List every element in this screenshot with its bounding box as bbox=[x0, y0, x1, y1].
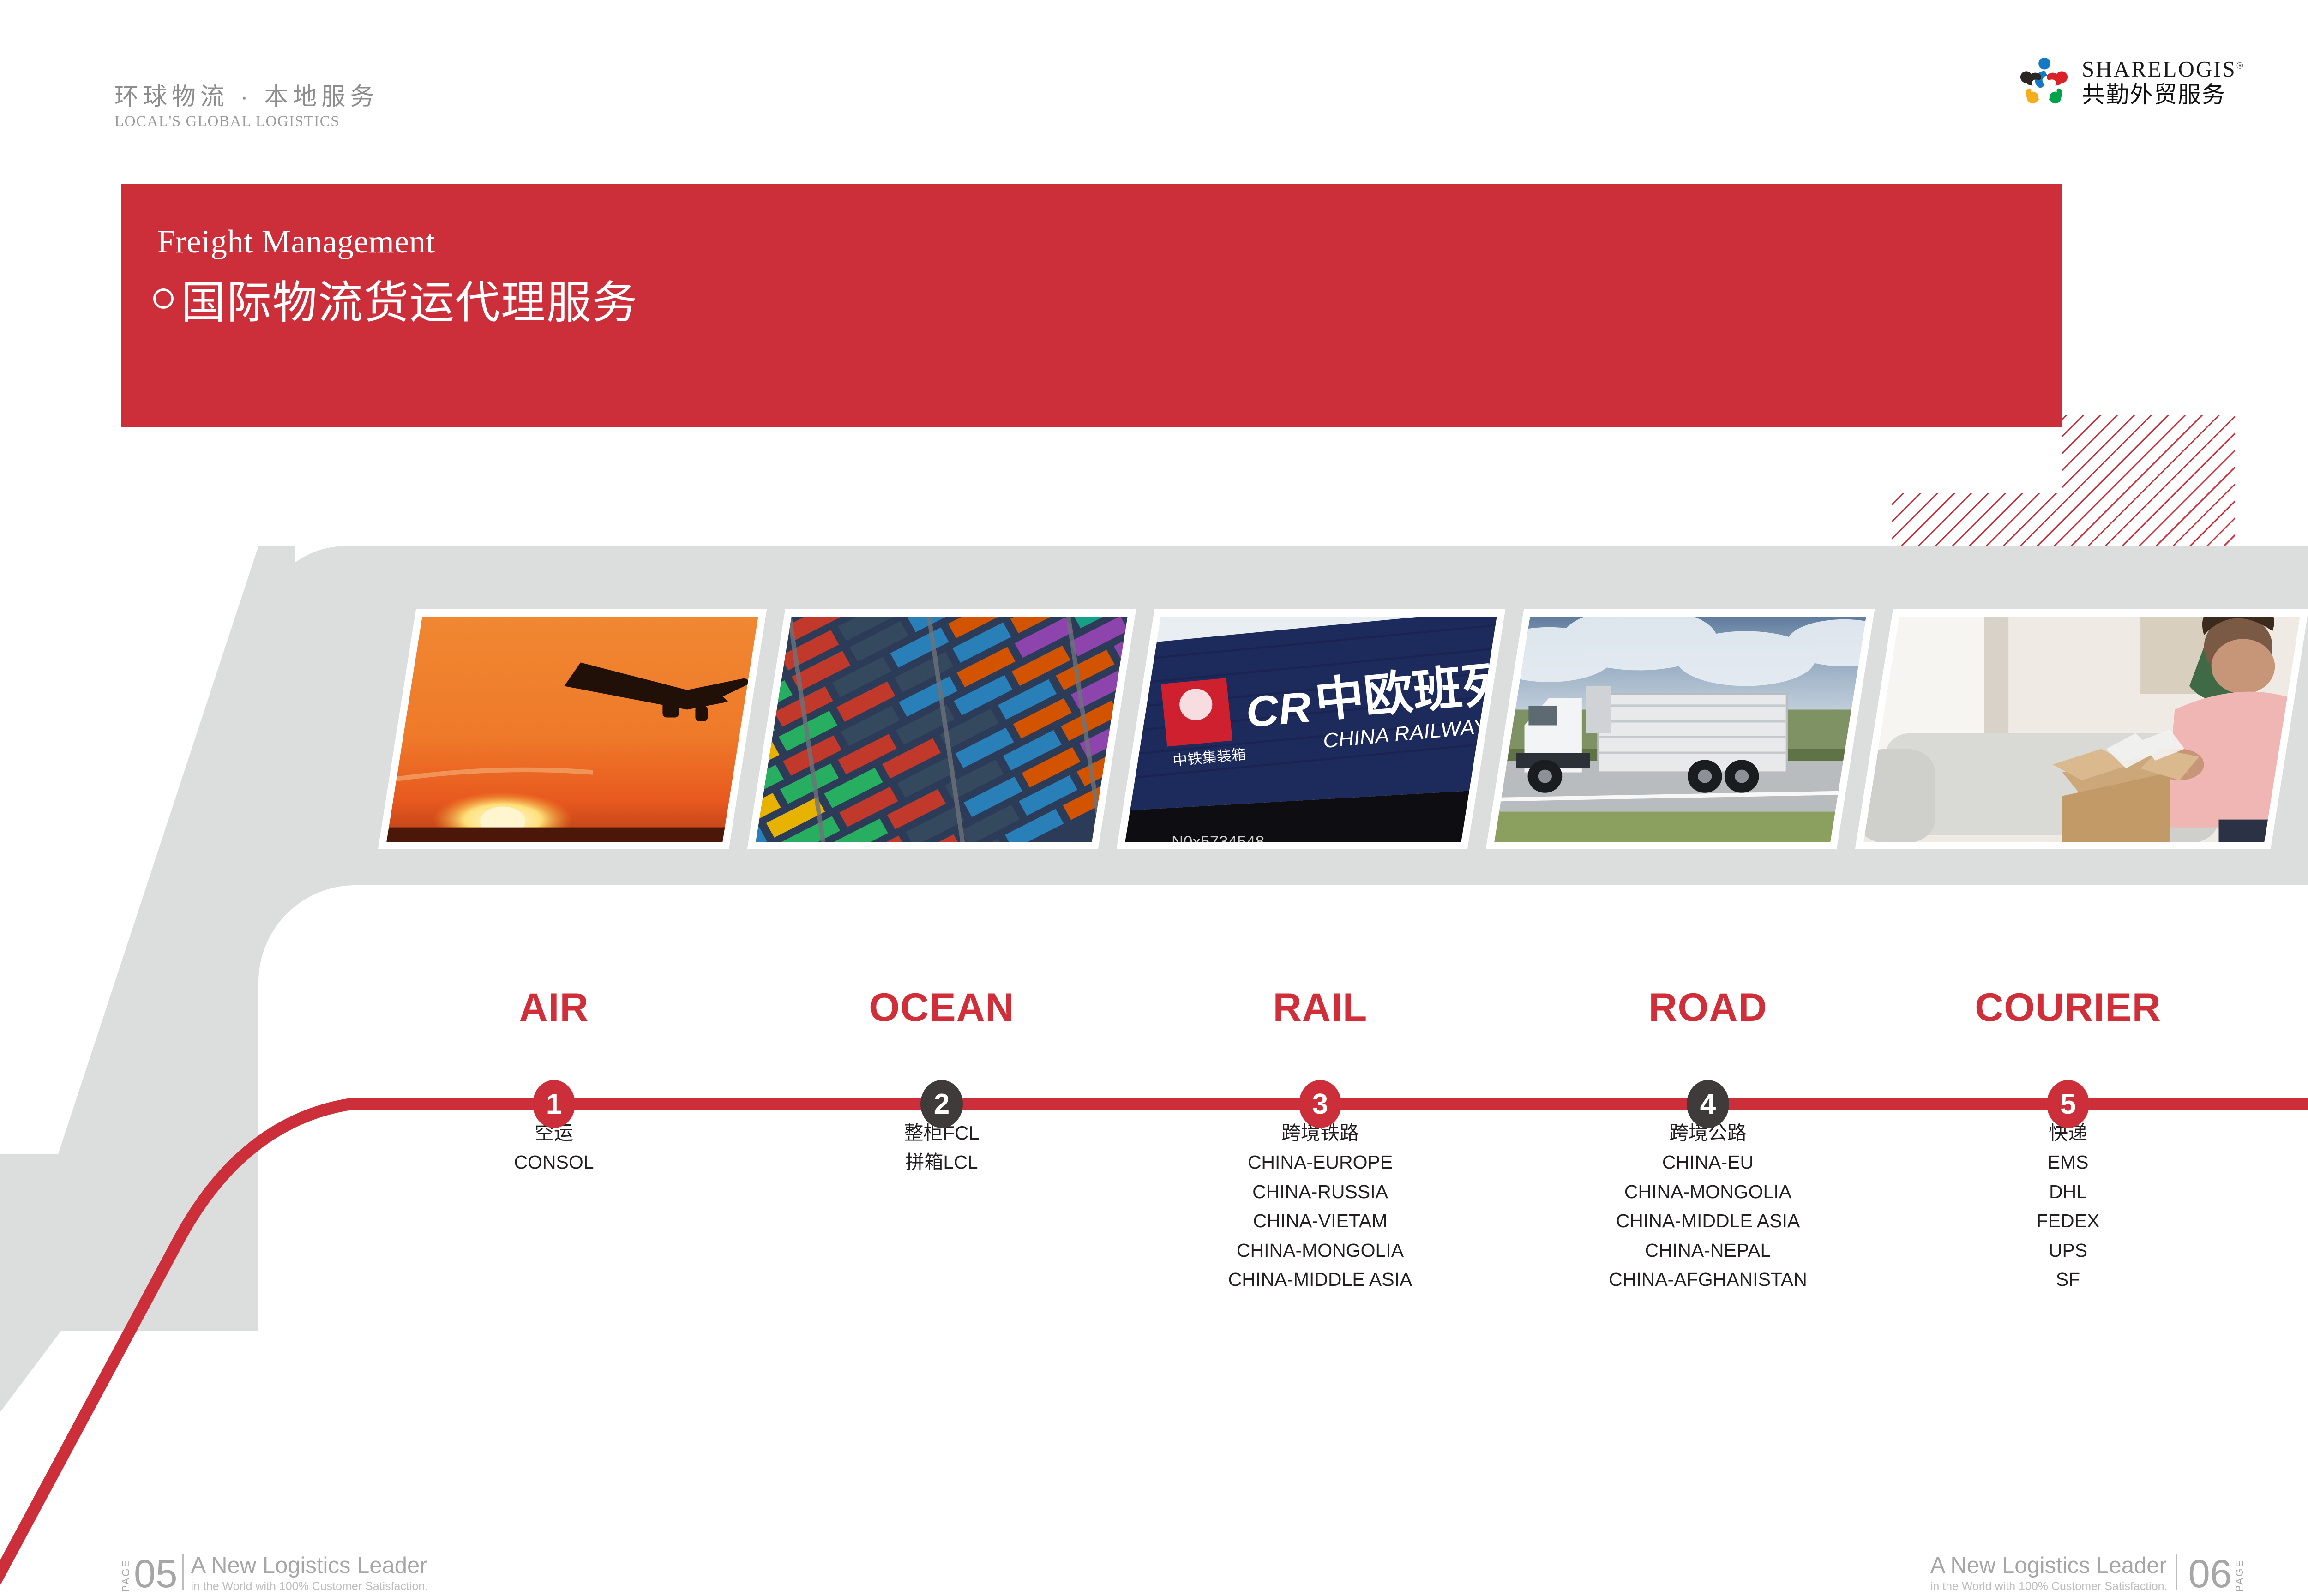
list-item: FEDEX bbox=[1860, 1206, 2276, 1236]
list-item: CHINA-AFGHANISTAN bbox=[1500, 1265, 1916, 1295]
timeline-node-4[interactable]: 4 bbox=[1687, 1080, 1729, 1128]
photo-strip: CR 中欧班列 CHINA RAILWAY Express 中铁集装箱 N0x5… bbox=[0, 609, 2308, 849]
footer-tagline-line2: in the World with 100% Customer Satisfac… bbox=[1930, 1581, 2168, 1592]
page-number-left: 05 bbox=[134, 1556, 178, 1592]
footer-tagline-line1: A New Logistics Leader bbox=[191, 1554, 428, 1577]
page-number-right: 06 bbox=[2188, 1556, 2232, 1592]
footer-tagline-right: A New Logistics Leader in the World with… bbox=[1930, 1554, 2168, 1592]
list-item: CHINA-MONGOLIA bbox=[1500, 1177, 1916, 1207]
footer-tagline-line1: A New Logistics Leader bbox=[1930, 1554, 2168, 1577]
timeline-node-5[interactable]: 5 bbox=[2047, 1080, 2089, 1128]
list-item: CHINA-MIDDLE ASIA bbox=[1112, 1265, 1528, 1295]
rail-freight-image: CR 中欧班列 CHINA RAILWAY Express 中铁集装箱 N0x5… bbox=[1117, 609, 1505, 849]
brand-chinese: 环球物流 · 本地服务 bbox=[114, 84, 379, 110]
page-word-left: PAGE bbox=[121, 1559, 131, 1592]
timeline-node-2[interactable]: 2 bbox=[920, 1080, 963, 1128]
page-word-right: PAGE bbox=[2235, 1559, 2245, 1592]
list-item: CONSOL bbox=[346, 1148, 762, 1177]
column-items: 快递 EMS DHL FEDEX UPS SF bbox=[1860, 1118, 2276, 1295]
registered-mark-icon: ® bbox=[2236, 60, 2245, 71]
column-heading: ROAD bbox=[1500, 988, 1916, 1027]
column-courier[interactable]: COURIER 快递 EMS DHL FEDEX UPS SF bbox=[1860, 988, 2276, 1295]
list-item: CHINA-EU bbox=[1500, 1148, 1916, 1177]
column-items: 跨境公路 CHINA-EU CHINA-MONGOLIA CHINA-MIDDL… bbox=[1500, 1118, 1916, 1295]
brand-english: LOCAL'S GLOBAL LOGISTICS bbox=[114, 113, 379, 130]
title-banner: Freight Management 国际物流货运代理服务 bbox=[121, 184, 2062, 427]
sharelogis-people-icon bbox=[2017, 54, 2072, 109]
footer-tagline-left: A New Logistics Leader in the World with… bbox=[191, 1554, 428, 1592]
list-item: SF bbox=[1860, 1265, 2276, 1295]
column-heading: COURIER bbox=[1860, 988, 2276, 1027]
list-item: DHL bbox=[1860, 1177, 2276, 1207]
list-item: CHINA-RUSSIA bbox=[1112, 1177, 1528, 1207]
banner-title-english: Freight Management bbox=[157, 223, 435, 261]
timeline-node-1[interactable]: 1 bbox=[533, 1080, 575, 1128]
column-rail[interactable]: RAIL 跨境铁路 CHINA-EUROPE CHINA-RUSSIA CHIN… bbox=[1112, 988, 1528, 1295]
logo-wordmark: SHARELOGIS® bbox=[2082, 58, 2245, 80]
footer-left: PAGE 05 A New Logistics Leader in the Wo… bbox=[121, 1445, 428, 1592]
courier-image bbox=[1855, 609, 2308, 849]
ocean-freight-image bbox=[747, 609, 1136, 849]
brand-lockup: 环球物流 · 本地服务 LOCAL'S GLOBAL LOGISTICS bbox=[114, 84, 379, 130]
list-item: CHINA-MONGOLIA bbox=[1112, 1236, 1528, 1266]
footer-right: A New Logistics Leader in the World with… bbox=[1930, 1445, 2245, 1592]
list-item: CHINA-EUROPE bbox=[1112, 1148, 1528, 1177]
column-heading: AIR bbox=[346, 988, 762, 1027]
timeline-node-3[interactable]: 3 bbox=[1299, 1080, 1341, 1128]
ring-bullet-icon bbox=[153, 288, 174, 309]
ocean-freight-photo bbox=[747, 609, 1136, 849]
column-items: 跨境铁路 CHINA-EUROPE CHINA-RUSSIA CHINA-VIE… bbox=[1112, 1118, 1528, 1295]
logo-chinese: 共勤外贸服务 bbox=[2082, 83, 2245, 106]
list-item: CHINA-NEPAL bbox=[1500, 1236, 1916, 1266]
footer-tagline-line2: in the World with 100% Customer Satisfac… bbox=[191, 1581, 428, 1592]
list-item: 拼箱LCL bbox=[734, 1148, 1149, 1177]
footer-divider-right bbox=[2176, 1554, 2177, 1590]
column-heading: OCEAN bbox=[734, 988, 1149, 1027]
svg-text:CR: CR bbox=[1244, 683, 1313, 737]
air-freight-image bbox=[378, 609, 767, 849]
column-heading: RAIL bbox=[1112, 988, 1528, 1027]
list-item: UPS bbox=[1860, 1236, 2276, 1266]
list-item: EMS bbox=[1860, 1148, 2276, 1177]
road-freight-photo bbox=[1486, 609, 1875, 849]
column-road[interactable]: ROAD 跨境公路 CHINA-EU CHINA-MONGOLIA CHINA-… bbox=[1500, 988, 1916, 1295]
footer-divider-left bbox=[182, 1554, 184, 1590]
list-item: CHINA-VIETAM bbox=[1112, 1206, 1528, 1236]
courier-photo bbox=[1855, 609, 2308, 849]
company-logo: SHARELOGIS® 共勤外贸服务 bbox=[2017, 54, 2245, 109]
road-freight-image bbox=[1486, 609, 1875, 849]
svg-text:N0x5734548: N0x5734548 bbox=[1172, 834, 1264, 849]
banner-title-chinese: 国际物流货运代理服务 bbox=[153, 266, 638, 331]
air-freight-photo bbox=[378, 609, 767, 849]
slide-canvas: 环球物流 · 本地服务 LOCAL'S GLOBAL LOGISTICS bbox=[0, 0, 2308, 1592]
list-item: CHINA-MIDDLE ASIA bbox=[1500, 1206, 1916, 1236]
rail-freight-photo: CR 中欧班列 CHINA RAILWAY Express 中铁集装箱 N0x5… bbox=[1117, 609, 1505, 849]
